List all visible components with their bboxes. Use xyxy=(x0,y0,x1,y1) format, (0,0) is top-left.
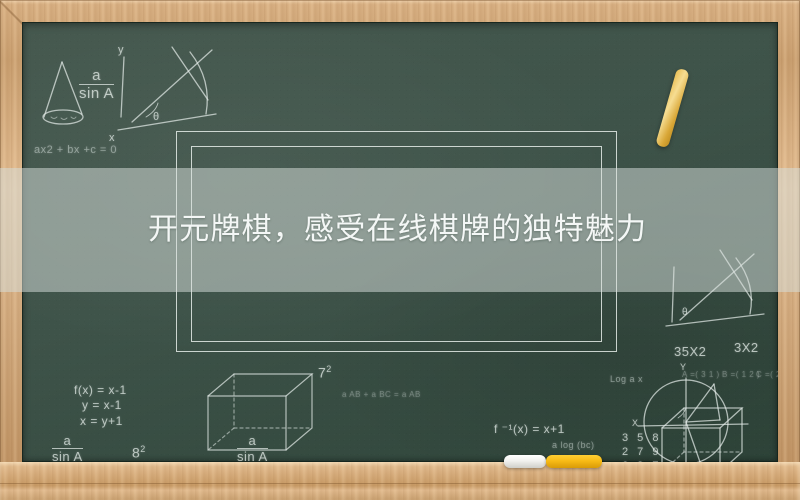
chalk-digits-row-2: 2 7 9 xyxy=(622,446,661,458)
cube2-hidden-edges xyxy=(684,408,742,452)
chalk-drawing-svg xyxy=(22,22,778,462)
chalk-fraction-a-sinA-bottommid: a sin A xyxy=(237,434,268,462)
unit-circle xyxy=(644,380,728,462)
axis-x-line xyxy=(118,114,216,130)
chalk-angle-theta-right: θ xyxy=(682,307,688,318)
ledge-seam-line xyxy=(0,483,800,484)
chalk-matrix-35x2: 35X2 xyxy=(674,344,706,359)
circle-radius-2 xyxy=(686,420,720,422)
cube-front-face xyxy=(208,396,286,450)
chalkboard-surface: a sin A y x θ ax2 + bx +c = 0 f(x) = x-1… xyxy=(22,22,778,462)
cone-base-dashes xyxy=(51,117,76,120)
cube2-front-face xyxy=(662,428,720,462)
chalk-axis-x-label: x xyxy=(109,132,115,144)
decorative-rect-inner xyxy=(191,146,602,342)
right-angle-ray xyxy=(680,254,754,320)
white-chalk-on-ledge xyxy=(504,455,546,468)
cube-right-face xyxy=(286,374,312,450)
decorative-rect-outer xyxy=(176,131,617,352)
chalk-fraction-a-sinA-bottomleft: a sin A xyxy=(52,434,83,462)
chalk-function-line-3: x = y+1 xyxy=(80,414,123,428)
circle-axes-diagram xyxy=(638,378,748,462)
axis-y-line xyxy=(121,57,124,117)
yellow-chalk-on-ledge xyxy=(546,455,602,468)
chalk-circle-axis-y: Y xyxy=(680,362,687,372)
angle-arc-outer xyxy=(190,52,207,114)
chalk-quadratic-equation: ax2 + bx +c = 0 xyxy=(34,144,117,156)
cone-base-ellipse xyxy=(43,110,83,124)
circle-radius-1 xyxy=(686,384,714,422)
chalk-power-seven: 72 xyxy=(318,364,332,381)
chalk-log-bc: a log (bc) xyxy=(552,440,595,450)
chalkboard-frame: a sin A y x θ ax2 + bx +c = 0 f(x) = x-1… xyxy=(0,0,800,500)
chalk-angle-theta-topleft: θ xyxy=(153,111,160,123)
right-angle-base xyxy=(666,314,764,326)
angle-ray-2 xyxy=(172,47,208,100)
circle-axis-x xyxy=(638,424,748,426)
cube2-right-face xyxy=(720,408,742,462)
circle-angle-mark xyxy=(678,408,686,418)
angle-arc-inner xyxy=(146,103,158,117)
chalk-circle-axis-x: X xyxy=(632,418,639,428)
chalk-log-ax: Log a x xyxy=(610,374,643,384)
right-angle-arc xyxy=(736,258,751,314)
cube2-hidden-edge-diag xyxy=(662,452,684,462)
chalk-ledge xyxy=(0,462,800,500)
chalk-matrix-a: A =( 3 1 ) xyxy=(682,370,720,379)
cube-bottom-right xyxy=(662,408,742,462)
circle-radius-3 xyxy=(686,422,700,462)
angle-diagram-right xyxy=(666,250,764,326)
circle-chord xyxy=(714,384,720,420)
angle-ray-1 xyxy=(132,50,212,122)
chalk-digits-row-1: 3 5 8 xyxy=(622,432,661,444)
cone-right-edge xyxy=(62,62,82,114)
chalk-triangle-inequality: a AB + a BC = a AB xyxy=(342,390,421,399)
right-angle-vertical xyxy=(672,267,674,322)
cube-bottom-center xyxy=(208,374,312,450)
chalk-fraction-a-sinA-topleft: a sin A xyxy=(79,68,114,102)
chalk-matrix-b: B =( 1 2 ) xyxy=(722,370,760,379)
chalk-axis-y-label: y xyxy=(118,44,124,56)
chalk-power-eight: 82 xyxy=(132,444,146,461)
chalk-matrix-c: C =( 2 3 ) xyxy=(756,370,778,379)
board-texture xyxy=(22,22,778,462)
cube-hidden-edges xyxy=(234,374,312,428)
chalk-function-line-2: y = x-1 xyxy=(82,398,122,412)
right-angle-ray2 xyxy=(720,250,752,300)
chalk-inverse-function: f ⁻¹(x) = x+1 xyxy=(494,422,565,436)
cube-hidden-edge-diag xyxy=(208,428,234,450)
cube2-top-face xyxy=(662,408,742,428)
cube-top-face xyxy=(208,374,312,396)
chalk-matrix-3x2: 3X2 xyxy=(734,340,759,355)
chalk-drawings-layer xyxy=(22,22,778,462)
chalk-function-line-1: f(x) = x-1 xyxy=(74,382,127,398)
cone-left-edge xyxy=(44,62,62,117)
